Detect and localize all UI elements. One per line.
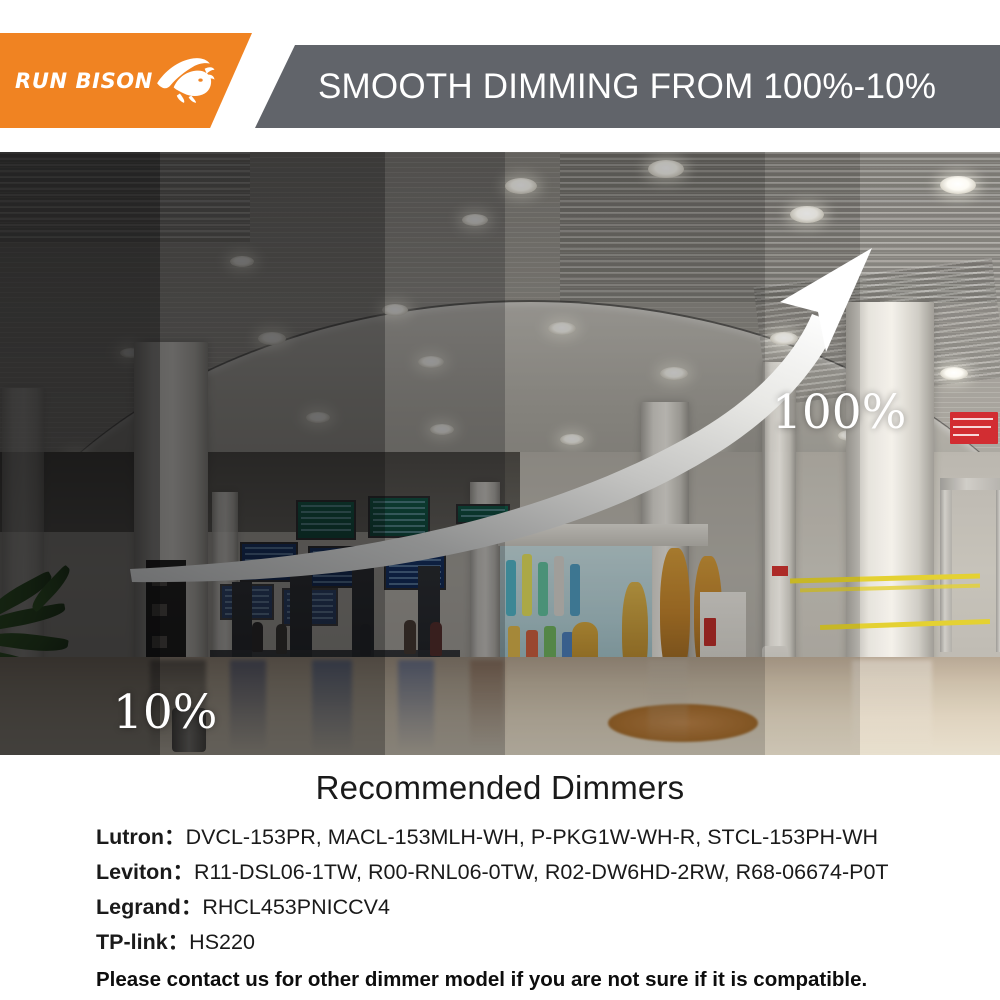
dimmer-row: Leviton：R11-DSL06-1TW, R00-RNL06-0TW, R0…	[96, 855, 889, 886]
header-banner: RUN BISON SMOOTH DIMMING FROM 100%-10%	[0, 0, 1000, 152]
dimmer-brand: TP-link：	[96, 930, 189, 954]
dimmer-row: Legrand：RHCL453PNICCV4	[96, 890, 390, 921]
arrow-head	[780, 248, 872, 352]
dimmer-models: R11-DSL06-1TW, R00-RNL06-0TW, R02-DW6HD-…	[194, 860, 889, 884]
label-100-percent: 100%	[772, 389, 906, 436]
recommended-dimmers-section: Recommended Dimmers Lutron：DVCL-153PR, M…	[0, 755, 1000, 1000]
terminal-photo: 100% 10%	[0, 152, 1000, 755]
dimming-arrow	[0, 152, 1000, 755]
compatibility-note: Please contact us for other dimmer model…	[96, 968, 867, 992]
brand-name-label: RUN BISON	[15, 69, 153, 93]
product-infographic: RUN BISON SMOOTH DIMMING FROM 100%-10%	[0, 0, 1000, 1000]
scene-base: 100% 10%	[0, 152, 1000, 755]
headline-banner: SMOOTH DIMMING FROM 100%-10%	[255, 45, 1000, 128]
dimmer-row: Lutron：DVCL-153PR, MACL-153MLH-WH, P-PKG…	[96, 820, 878, 851]
bison-head-icon	[153, 51, 215, 103]
label-10-percent: 10%	[113, 689, 217, 736]
recommended-dimmers-title: Recommended Dimmers	[0, 769, 1000, 807]
headline-text: SMOOTH DIMMING FROM 100%-10%	[318, 67, 936, 107]
dimmer-models: DVCL-153PR, MACL-153MLH-WH, P-PKG1W-WH-R…	[186, 825, 879, 849]
dimmer-row: TP-link：HS220	[96, 925, 255, 956]
dimmer-brand: Leviton：	[96, 860, 194, 884]
dimmer-models: RHCL453PNICCV4	[202, 895, 390, 919]
brand-logo-banner: RUN BISON	[0, 33, 252, 128]
dimmer-brand: Legrand：	[96, 895, 202, 919]
dimmer-models: HS220	[189, 930, 255, 954]
arrow-body	[130, 314, 838, 582]
dimmer-brand: Lutron：	[96, 825, 186, 849]
